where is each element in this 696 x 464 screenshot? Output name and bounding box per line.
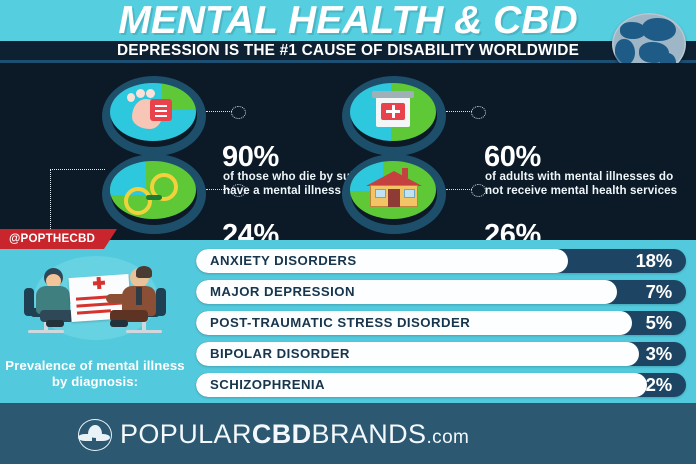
lotus-logo-icon — [78, 419, 112, 451]
subtitle-text: DEPRESSION IS THE #1 CAUSE OF DISABILITY… — [0, 41, 696, 61]
stat-text-60: of adults with mental illnesses do not r… — [485, 170, 685, 197]
brand-tld: .com — [426, 427, 469, 448]
prevalence-caption: Prevalence of mental illness by diagnosi… — [4, 358, 186, 389]
bar-value: 3% — [646, 342, 672, 366]
bar-value: 7% — [646, 280, 672, 304]
handle-text: @POPTHECBD — [9, 229, 95, 249]
brand-part2: CBD — [252, 419, 312, 449]
bar-value: 2% — [646, 373, 672, 397]
handle-badge: @POPTHECBD — [0, 229, 117, 249]
stat-number-90: 90% — [222, 143, 279, 172]
bar-value: 5% — [646, 311, 672, 335]
prevalence-bar-chart: ANXIETY DISORDERS 18% MAJOR DEPRESSION 7… — [196, 249, 686, 397]
brand-wordmark[interactable]: POPULARCBDBRANDS.com — [120, 418, 469, 450]
bar-label: BIPOLAR DISORDER — [210, 342, 350, 366]
handcuffs-icon — [100, 153, 204, 225]
infographic-page: MENTAL HEALTH & CBD DEPRESSION IS THE #1… — [0, 0, 696, 464]
bar-label: SCHIZOPHRENIA — [210, 373, 325, 397]
bar-value: 18% — [636, 249, 672, 273]
statistics-section: 90% of those who die by suicide have a m… — [0, 63, 696, 240]
chart-row[interactable]: POST-TRAUMATIC STRESS DISORDER 5% — [196, 311, 686, 335]
footprint-icon — [100, 75, 204, 147]
brand-part3: BRANDS — [312, 419, 427, 449]
chart-row[interactable]: ANXIETY DISORDERS 18% — [196, 249, 686, 273]
chart-row[interactable]: BIPOLAR DISORDER 3% — [196, 342, 686, 366]
chart-row[interactable]: MAJOR DEPRESSION 7% — [196, 280, 686, 304]
doctor-patient-illustration — [10, 250, 182, 355]
medicine-bottle-icon — [340, 75, 444, 147]
bar-label: MAJOR DEPRESSION — [210, 280, 355, 304]
house-icon — [340, 153, 444, 225]
page-title: MENTAL HEALTH & CBD — [0, 0, 696, 44]
bar-label: POST-TRAUMATIC STRESS DISORDER — [210, 311, 470, 335]
brand-part1: POPULAR — [120, 419, 252, 449]
chart-row[interactable]: SCHIZOPHRENIA 2% — [196, 373, 686, 397]
stat-number-60: 60% — [484, 143, 541, 172]
bar-label: ANXIETY DISORDERS — [210, 249, 357, 273]
